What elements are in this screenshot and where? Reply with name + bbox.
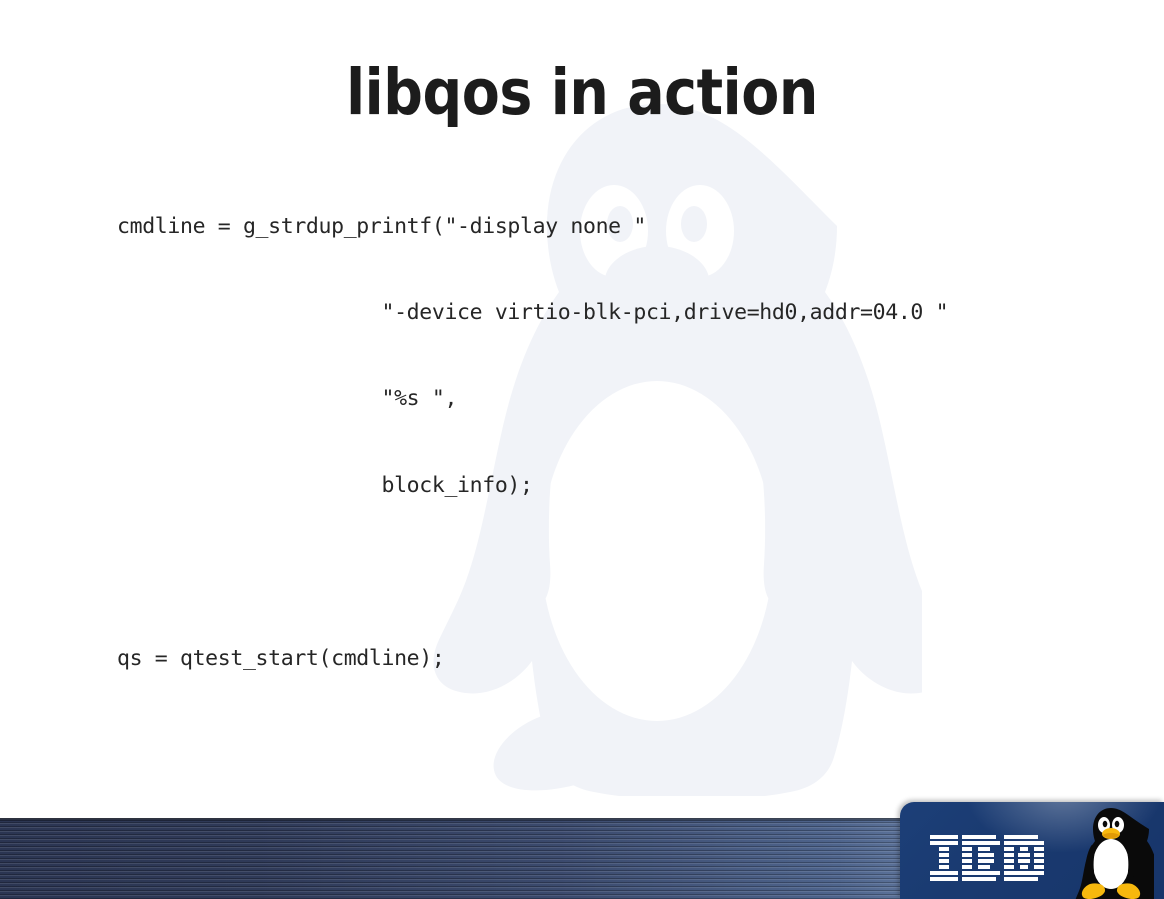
tux-penguin-icon — [1068, 802, 1154, 899]
code-line: "%s ", — [117, 385, 948, 414]
code-line: block_info); — [117, 472, 948, 501]
ibm-logo-box — [900, 802, 1164, 899]
code-line-blank — [117, 558, 948, 587]
code-line: cmdline = g_strdup_printf("-display none… — [117, 213, 948, 242]
code-block: cmdline = g_strdup_printf("-display none… — [117, 155, 948, 899]
slide-canvas: libqos in action cmdline = g_strdup_prin… — [0, 0, 1164, 899]
slide-title: libqos in action — [70, 58, 1094, 128]
ibm-wordmark-icon — [930, 835, 1054, 885]
code-line-blank — [117, 731, 948, 760]
code-line: qs = qtest_start(cmdline); — [117, 645, 948, 674]
code-line: "-device virtio-blk-pci,drive=hd0,addr=0… — [117, 299, 948, 328]
